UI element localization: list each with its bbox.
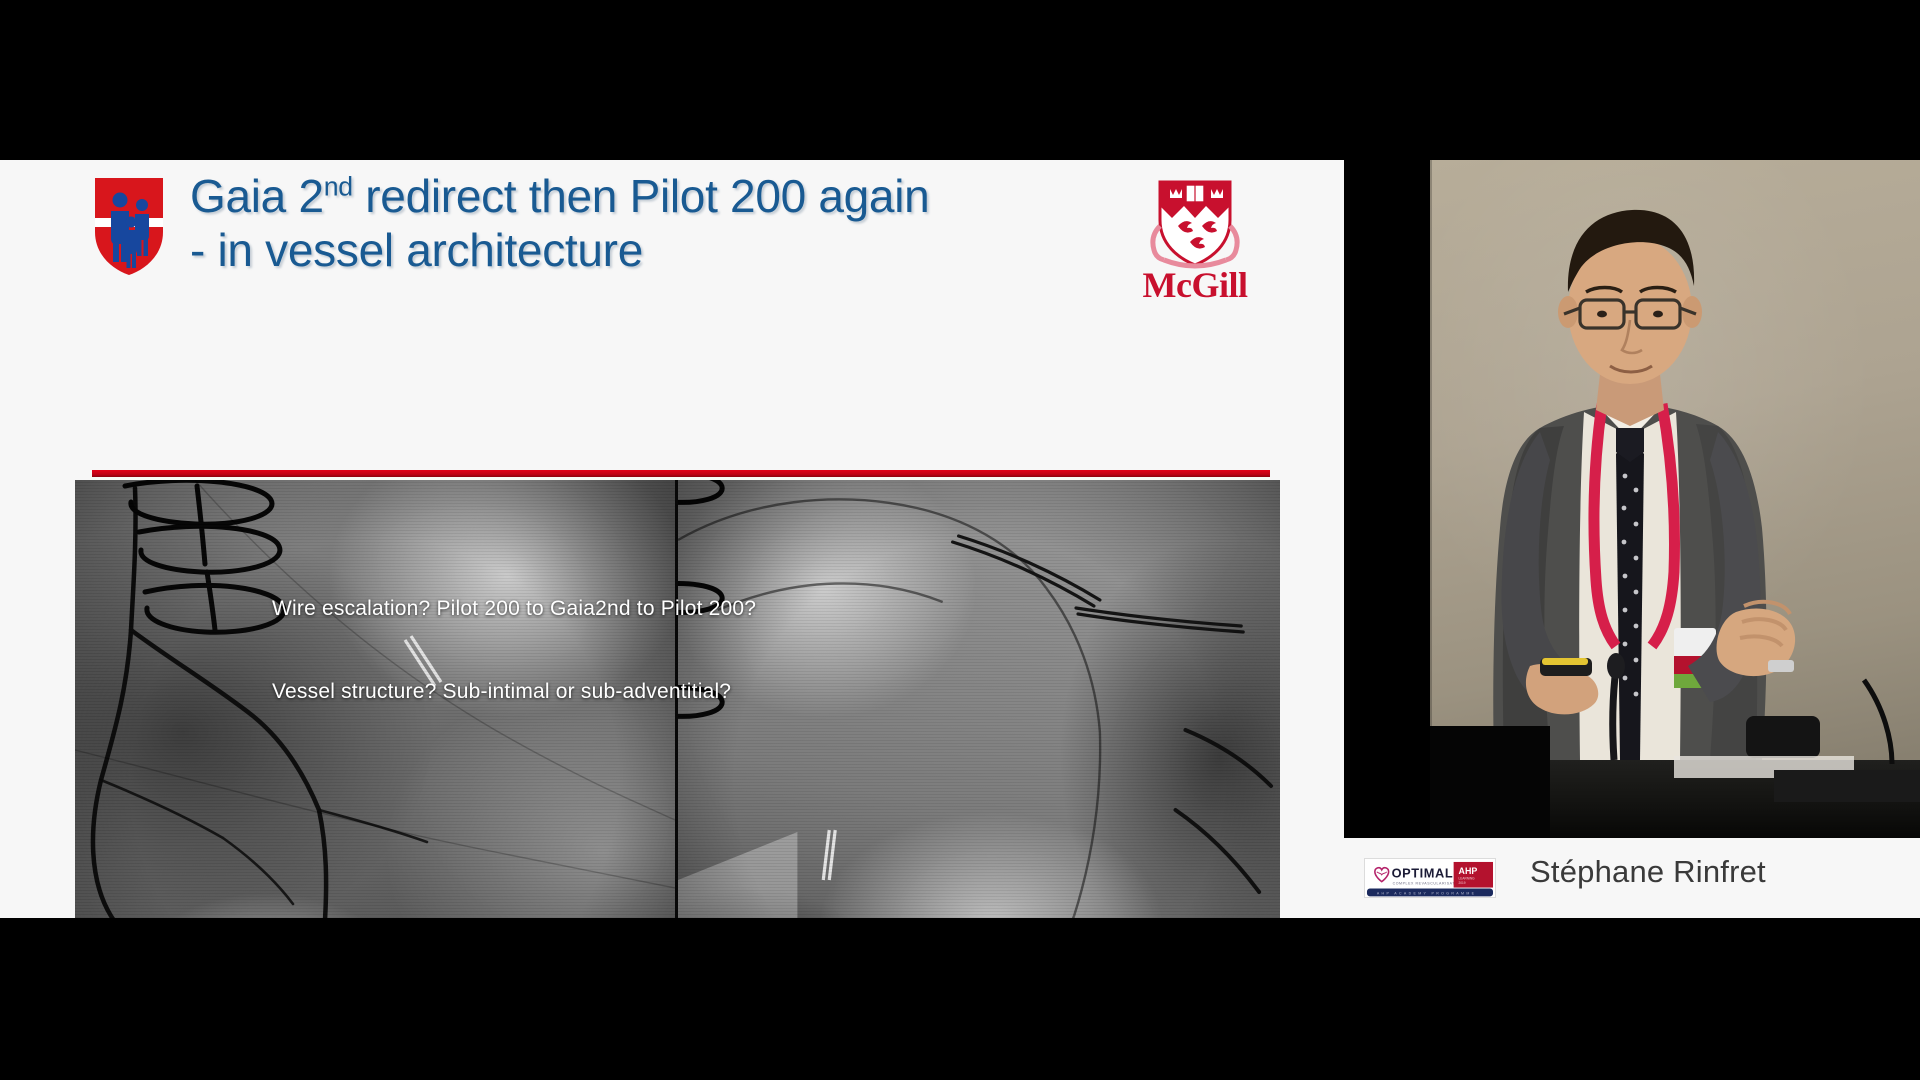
svg-text:AHP: AHP [1459, 866, 1478, 876]
svg-text:OPTIMAL: OPTIMAL [1392, 866, 1454, 881]
overlay-caption-vessel-structure: Vessel structure? Sub-intimal or sub-adv… [75, 680, 1280, 704]
svg-text:COMPLEX REVASCULARISATION: COMPLEX REVASCULARISATION [1393, 882, 1464, 886]
slide-header: Gaia 2nd redirect then Pilot 200 again -… [0, 160, 1344, 315]
speaker-name-label: Stéphane Rinfret [1530, 854, 1900, 890]
slide-panel: Gaia 2nd redirect then Pilot 200 again -… [0, 160, 1344, 918]
svg-text:LEARNING: LEARNING [1459, 877, 1476, 881]
optimal-ahp-logo: OPTIMAL COMPLEX REVASCULARISATION AHP LE… [1364, 858, 1496, 898]
mcgill-wordmark: McGill [1133, 264, 1257, 306]
slide-title: Gaia 2nd redirect then Pilot 200 again -… [190, 170, 1090, 278]
angiogram-image-pair: Wire escalation? Pilot 200 to Gaia2nd to… [75, 480, 1280, 918]
slide-title-line1-pre: Gaia 2 [190, 170, 324, 222]
overlay-caption-wire-escalation: Wire escalation? Pilot 200 to Gaia2nd to… [75, 597, 1280, 621]
svg-text:2019: 2019 [1459, 881, 1466, 885]
title-underline-rule [92, 470, 1270, 477]
letterbox-top [0, 0, 1920, 160]
speaker-figure [1344, 160, 1920, 838]
speaker-video-frame[interactable] [1344, 160, 1920, 838]
screen-root: Gaia 2nd redirect then Pilot 200 again -… [0, 0, 1920, 1080]
slide-title-line2: - in vessel architecture [190, 224, 1090, 278]
speaker-footer: OPTIMAL COMPLEX REVASCULARISATION AHP LE… [1344, 838, 1920, 918]
svg-text:AHP ACADEMY PROGRAMME: AHP ACADEMY PROGRAMME [1377, 891, 1477, 895]
slide-title-line1-post: redirect then Pilot 200 again [353, 170, 930, 222]
muhc-shield-logo [92, 174, 166, 278]
slide-title-superscript: nd [324, 172, 353, 202]
letterbox-bottom [0, 918, 1920, 1080]
speaker-video-panel[interactable]: OPTIMAL COMPLEX REVASCULARISATION AHP LE… [1344, 160, 1920, 918]
